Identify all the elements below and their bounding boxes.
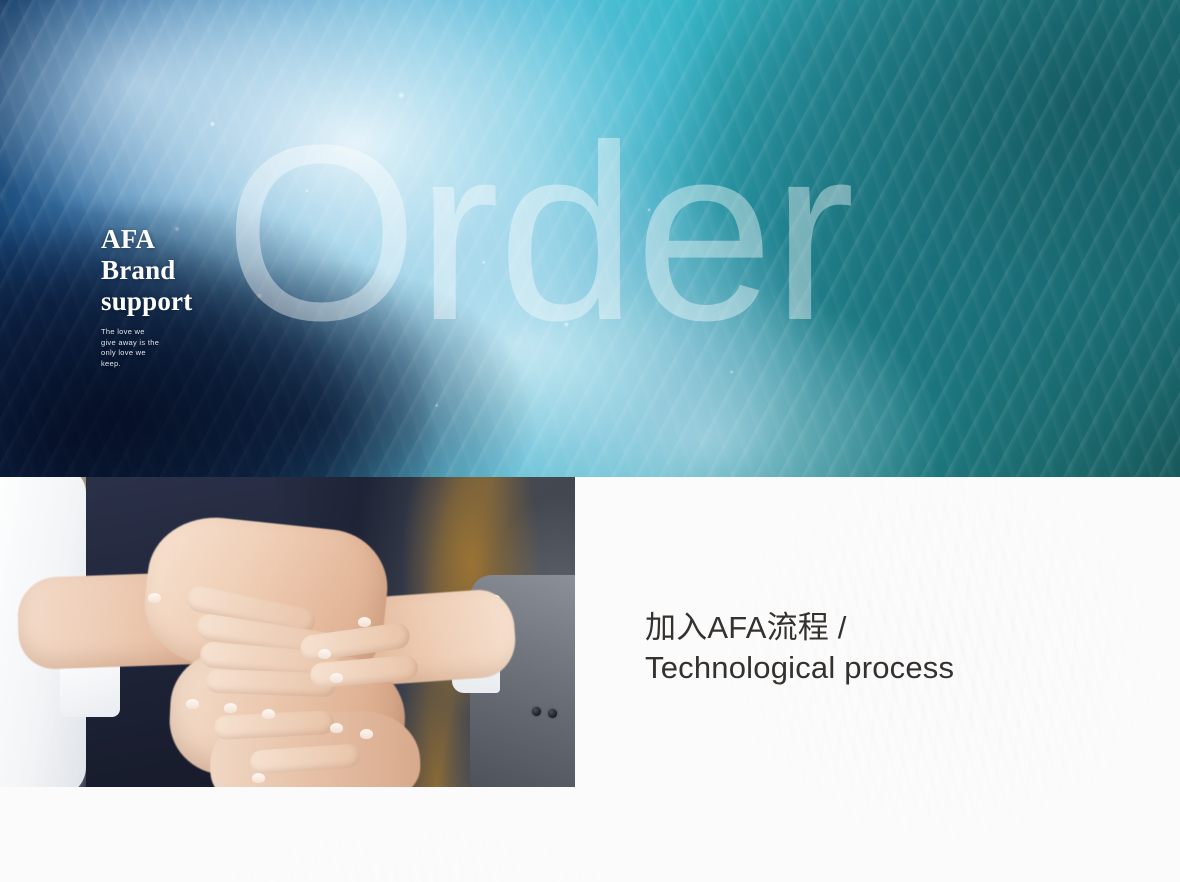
slide-page: Order AFA Brand support The love we give… [0,0,1180,882]
brand-block: AFA Brand support The love we give away … [101,224,331,369]
fingernail-9 [360,729,373,739]
fingernail-7 [358,617,371,627]
hero-ocean-banner: Order AFA Brand support The love we give… [0,0,1180,477]
fingernail-3 [224,703,237,713]
fingernail-4 [262,709,275,719]
brand-title: AFA Brand support [101,224,331,317]
teamwork-hands-photo [0,477,575,787]
fingernail-1 [148,593,161,603]
feather-texture-bottom [60,777,960,882]
fingernail-2 [186,699,199,709]
suit-button-upper [532,707,541,716]
process-section: 加入AFA流程 / Technological process [0,477,1180,882]
fingernail-8 [330,723,343,733]
process-heading: 加入AFA流程 / Technological process [645,608,954,688]
fingernail-6 [330,673,343,683]
fingernail-10 [252,773,265,783]
fingernail-5 [318,649,331,659]
brand-tagline: The love we give away is the only love w… [101,327,331,369]
suit-button-lower [548,709,557,718]
